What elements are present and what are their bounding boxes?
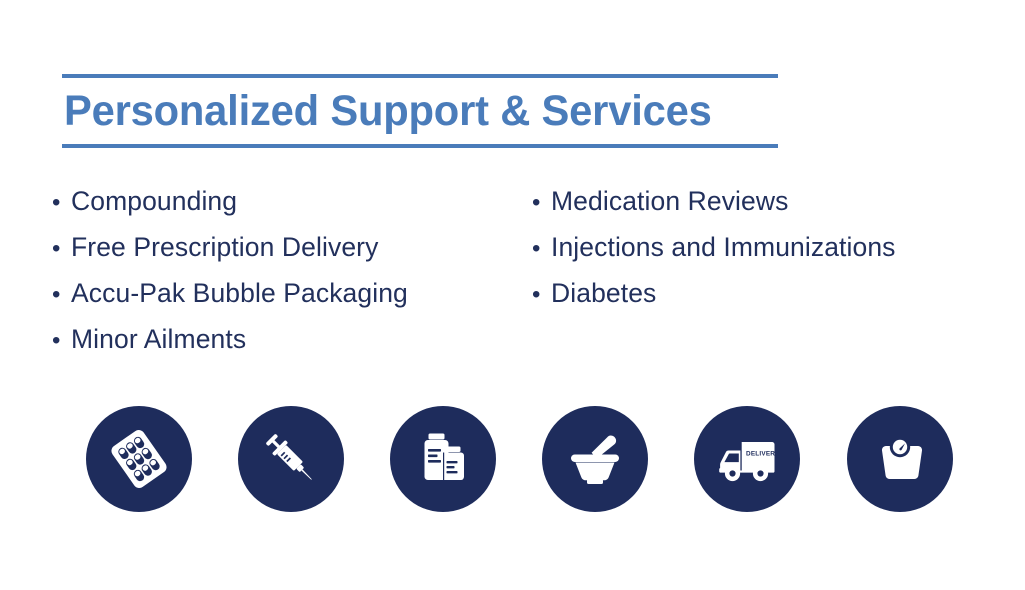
services-column-right: • Medication Reviews • Injections and Im… bbox=[532, 178, 1022, 316]
list-item-label: Accu-Pak Bubble Packaging bbox=[71, 270, 408, 316]
bullet-icon: • bbox=[532, 226, 551, 272]
list-item: • Medication Reviews bbox=[532, 178, 1022, 224]
icon-badge-weight-scale bbox=[847, 406, 953, 512]
icon-badge-pill-bottles bbox=[390, 406, 496, 512]
icon-badge-blister-pack bbox=[86, 406, 192, 512]
bullet-icon: • bbox=[52, 180, 71, 226]
pill-bottles-icon bbox=[412, 428, 474, 490]
icon-badge-delivery-van: DELIVERY bbox=[694, 406, 800, 512]
list-item-label: Injections and Immunizations bbox=[551, 224, 896, 270]
list-item: • Accu-Pak Bubble Packaging bbox=[52, 270, 522, 316]
bullet-icon: • bbox=[532, 272, 551, 318]
list-item: • Diabetes bbox=[532, 270, 1022, 316]
bullet-icon: • bbox=[52, 226, 71, 272]
list-item-label: Diabetes bbox=[551, 270, 656, 316]
icon-strip: DELIVERY bbox=[0, 406, 1025, 516]
delivery-van-icon: DELIVERY bbox=[712, 424, 782, 494]
title-block: Personalized Support & Services bbox=[62, 74, 778, 148]
syringe-icon bbox=[260, 428, 322, 490]
services-column-left: • Compounding • Free Prescription Delive… bbox=[52, 178, 522, 362]
services-lists: • Compounding • Free Prescription Delive… bbox=[0, 178, 1025, 368]
weight-scale-icon bbox=[868, 427, 932, 491]
list-item: • Free Prescription Delivery bbox=[52, 224, 522, 270]
list-item: • Minor Ailments bbox=[52, 316, 522, 362]
list-item-label: Free Prescription Delivery bbox=[71, 224, 378, 270]
list-item: • Compounding bbox=[52, 178, 522, 224]
page-title: Personalized Support & Services bbox=[62, 78, 757, 144]
bullet-icon: • bbox=[52, 318, 71, 364]
mortar-and-pestle-icon bbox=[563, 427, 627, 491]
blister-pack-icon bbox=[108, 428, 170, 490]
van-text: DELIVERY bbox=[746, 451, 780, 458]
list-item-label: Compounding bbox=[71, 178, 237, 224]
icon-badge-syringe bbox=[238, 406, 344, 512]
bullet-icon: • bbox=[52, 272, 71, 318]
list-item: • Injections and Immunizations bbox=[532, 224, 1022, 270]
list-item-label: Minor Ailments bbox=[71, 316, 246, 362]
title-rule-bottom bbox=[62, 144, 778, 148]
bullet-icon: • bbox=[532, 180, 551, 226]
slide-canvas: Personalized Support & Services • Compou… bbox=[0, 0, 1025, 590]
icon-badge-mortar-pestle bbox=[542, 406, 648, 512]
list-item-label: Medication Reviews bbox=[551, 178, 788, 224]
